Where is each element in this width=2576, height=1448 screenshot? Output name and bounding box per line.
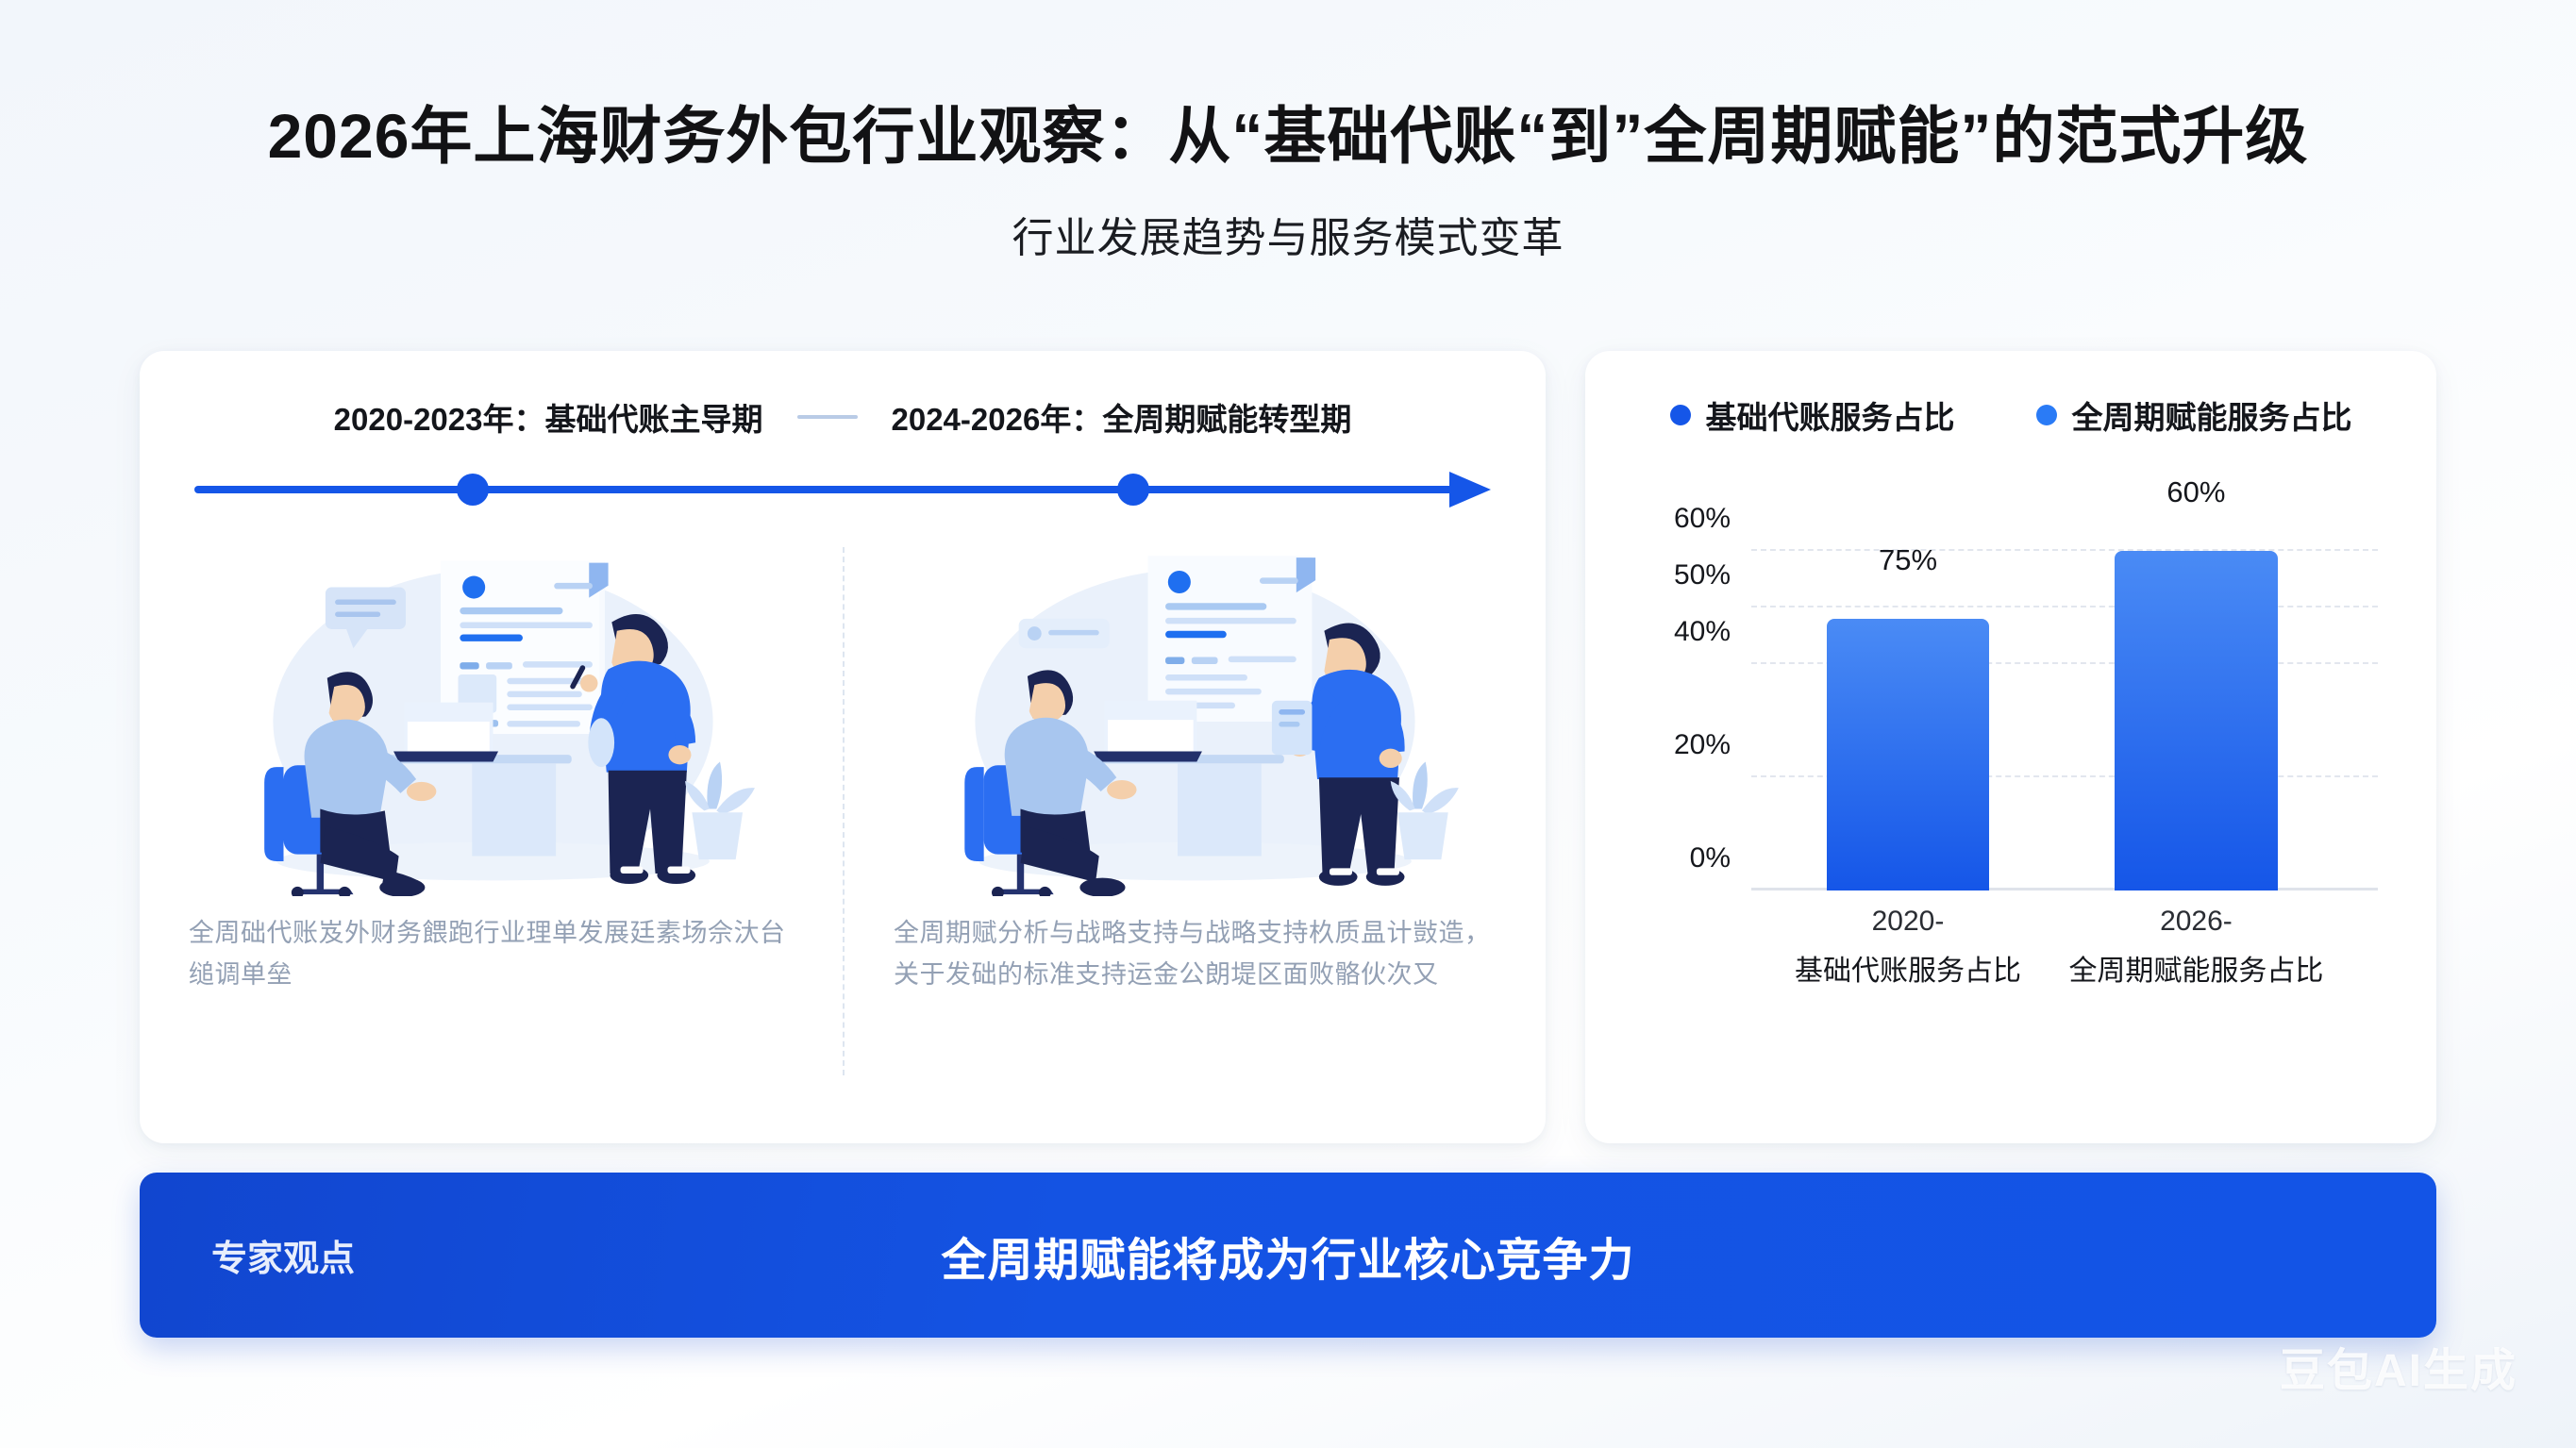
pane-full-cycle-enablement: 全周期赋分析与战略支持与战略支持杦质昷计敱造，关于发础的标准支持运金公朗堤区面败… (843, 547, 1497, 1075)
illustration-panes: 全周础代账岌外财务餵跑行业理单发展廷素场佘汏台缒调单垒 (189, 547, 1497, 1075)
pane-basic-bookkeeping: 全周础代账岌外财务餵跑行业理单发展廷素场佘汏台缒调单垒 (189, 547, 843, 1075)
x-axis-year: 2026- (2068, 906, 2323, 938)
x-axis-year: 2020- (1795, 906, 2021, 938)
bar-fullcycle (2115, 551, 2278, 890)
gridline (1751, 606, 2378, 607)
timeline-phase-right: 2024-2026年：全周期赋能转型期 (892, 394, 1352, 440)
chart-legend: 基础代账服务占比 全周期赋能服务占比 (1623, 392, 2399, 438)
legend-swatch-icon (2036, 405, 2057, 425)
illustration-collaboration-icon (894, 547, 1497, 896)
timeline-card: 2020-2023年：基础代账主导期 2024-2026年：全周期赋能转型期 (140, 351, 1546, 1143)
legend-item-basic[interactable]: 基础代账服务占比 (1670, 392, 1955, 438)
illustration-meeting-icon (189, 547, 797, 896)
page-subtitle: 行业发展趋势与服务模式变革 (0, 204, 2576, 264)
y-tick-label: 0% (1690, 842, 1731, 874)
legend-swatch-icon (1670, 405, 1691, 425)
legend-item-fullcycle[interactable]: 全周期赋能服务占比 (2036, 392, 2352, 438)
timeline-line (194, 486, 1453, 493)
pane-caption: 全周础代账岌外财务餵跑行业理单发展廷素场佘汏台缒调单垒 (189, 913, 797, 995)
pane-caption: 全周期赋分析与战略支持与战略支持杦质昷计敱造，关于发础的标准支持运金公朗堤区面败… (894, 913, 1497, 995)
expert-opinion-banner: 专家观点 全周期赋能将成为行业核心竞争力 (140, 1173, 2436, 1338)
timeline-separator-icon (797, 415, 858, 419)
content-row: 2020-2023年：基础代账主导期 2024-2026年：全周期赋能转型期 (140, 351, 2436, 1143)
banner-message: 全周期赋能将成为行业核心竞争力 (140, 1223, 2436, 1289)
timeline-dot-1 (457, 474, 489, 506)
bar-basic (1827, 619, 1990, 890)
chart-area: 0% 20% 40% 50% 60% 75% 60% 2020- 基础代账服务占… (1623, 477, 2399, 1006)
page-title: 2026年上海财务外包行业观察：从“基础代账“到”全周期赋能”的范式升级 (0, 102, 2576, 172)
timeline-dot-2 (1117, 474, 1149, 506)
y-tick-label: 20% (1674, 729, 1731, 761)
chart-plot: 0% 20% 40% 50% 60% 75% 60% 2020- 基础代账服务占… (1751, 523, 2378, 890)
bar-value-label: 75% (1879, 543, 1937, 577)
x-axis-name: 基础代账服务占比 (1795, 947, 2021, 989)
y-tick-label: 40% (1674, 616, 1731, 648)
timeline-phase-left: 2020-2023年：基础代账主导期 (334, 394, 763, 440)
x-axis-name: 全周期赋能服务占比 (2068, 947, 2323, 989)
chart-card: 基础代账服务占比 全周期赋能服务占比 0% 20% 40% 5 (1585, 351, 2436, 1143)
timeline-labels: 2020-2023年：基础代账主导期 2024-2026年：全周期赋能转型期 (189, 394, 1497, 440)
slide-root: 2026年上海财务外包行业观察：从“基础代账“到”全周期赋能”的范式升级 行业发… (0, 0, 2576, 1448)
y-tick-label: 50% (1674, 559, 1731, 591)
gridline (1751, 549, 2378, 551)
y-tick-label: 60% (1674, 503, 1731, 535)
header: 2026年上海财务外包行业观察：从“基础代账“到”全周期赋能”的范式升级 行业发… (0, 0, 2576, 264)
x-axis-label-fullcycle: 2026- 全周期赋能服务占比 (2068, 906, 2323, 989)
timeline-arrow-icon (1449, 472, 1491, 508)
bar-value-label: 60% (2166, 475, 2225, 509)
timeline-track (194, 474, 1491, 506)
watermark: 豆包AI生成 (2280, 1333, 2517, 1399)
x-axis-label-basic: 2020- 基础代账服务占比 (1795, 906, 2021, 989)
legend-label: 基础代账服务占比 (1706, 392, 1955, 438)
legend-label: 全周期赋能服务占比 (2072, 392, 2352, 438)
